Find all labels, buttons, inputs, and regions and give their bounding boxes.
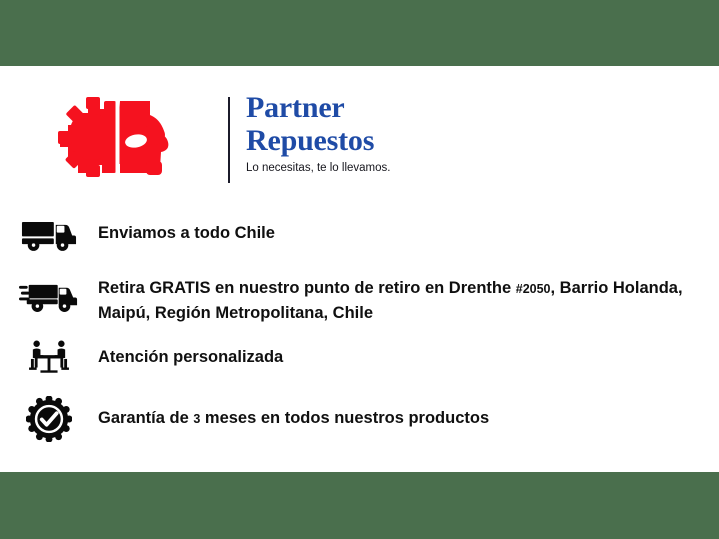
gear-car-logo-icon	[58, 95, 176, 179]
white-content-card: Partner Repuestos Lo necesitas, te lo ll…	[0, 66, 719, 472]
pickup-street-number: #2050	[516, 282, 551, 296]
feature-text-pickup: Retira GRATIS en nuestro punto de retiro…	[98, 272, 688, 325]
feature-row-attention: Atención personalizada	[0, 334, 719, 382]
moving-truck-icon	[18, 272, 80, 320]
brand-name-line-2: Repuestos	[246, 124, 486, 157]
feature-row-pickup: Retira GRATIS en nuestro punto de retiro…	[0, 272, 719, 325]
people-at-table-icon	[18, 334, 80, 382]
logo-divider	[228, 97, 230, 183]
guarantee-badge-icon	[18, 395, 80, 443]
pickup-text-part-1: Retira GRATIS en nuestro punto de retiro…	[98, 279, 516, 297]
promo-banner: Partner Repuestos Lo necesitas, te lo ll…	[0, 0, 719, 539]
brand-name-line-1: Partner	[246, 91, 486, 124]
feature-text-shipping: Enviamos a todo Chile	[98, 210, 275, 245]
brand-logo: Partner Repuestos Lo necesitas, te lo ll…	[58, 95, 478, 187]
delivery-truck-icon	[18, 210, 80, 258]
feature-row-guarantee: Garantía de 3 meses en todos nuestros pr…	[0, 395, 719, 443]
feature-text-guarantee: Garantía de 3 meses en todos nuestros pr…	[98, 395, 489, 431]
guarantee-text-part-1: Garantía de	[98, 409, 193, 427]
feature-row-shipping: Enviamos a todo Chile	[0, 210, 719, 258]
brand-name-block: Partner Repuestos Lo necesitas, te lo ll…	[246, 91, 486, 174]
brand-tagline: Lo necesitas, te lo llevamos.	[246, 162, 486, 174]
guarantee-text-part-2: meses en todos nuestros productos	[200, 409, 489, 427]
feature-text-attention: Atención personalizada	[98, 334, 283, 369]
